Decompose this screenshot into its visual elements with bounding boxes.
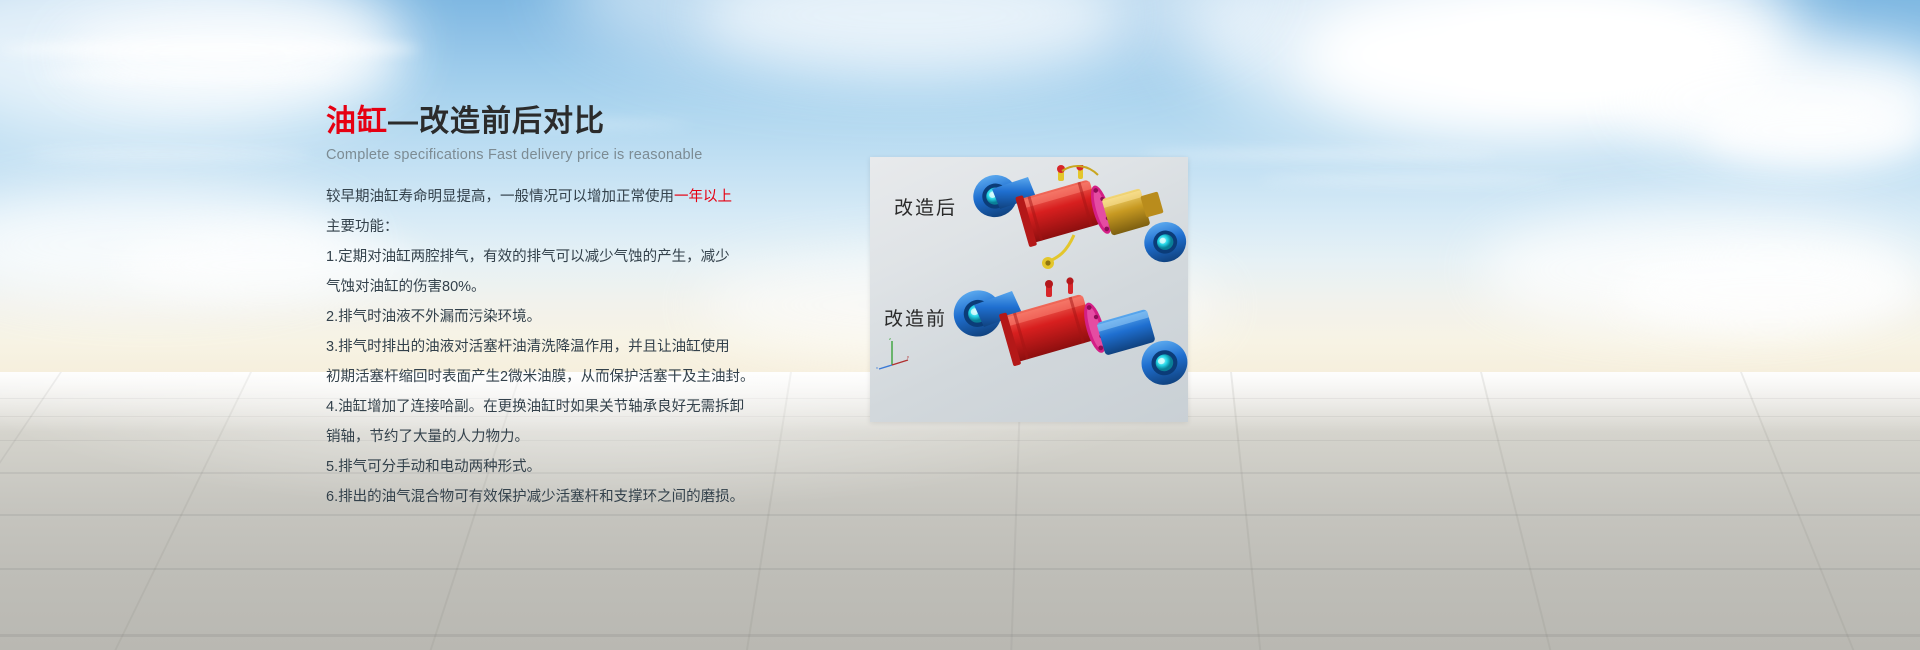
page-subtitle: Complete specifications Fast delivery pr…	[326, 147, 746, 163]
cloud-streak	[30, 150, 310, 159]
port-nipples	[1045, 277, 1074, 297]
label-before-modification: 改造前	[884, 304, 947, 331]
title-rest: —改造前后对比	[388, 105, 605, 138]
cylinder-before-render	[942, 277, 1188, 409]
feature-item-1-line-2: 气蚀对油缸的伤害80%。	[326, 275, 746, 300]
functions-header: 主要功能：	[326, 215, 746, 240]
intro-text: 较早期油缸寿命明显提高，一般情况可以增加正常使用	[326, 189, 674, 205]
cloud-streak	[40, 70, 340, 80]
axis-triad-icon: z x y	[876, 335, 912, 371]
title-highlight: 油缸	[326, 105, 388, 138]
feature-item-3-line-1: 3.排气时排出的油液对活塞杆油清洗降温作用，并且让油缸使用	[326, 335, 746, 360]
cloud-streak	[1260, 176, 1560, 184]
banner-stage: 油缸—改造前后对比 Complete specifications Fast d…	[0, 0, 1920, 650]
cylinder-after-render	[962, 165, 1188, 283]
cloud-streak	[1140, 150, 1500, 159]
feature-item-3-line-2: 初期活塞杆缩回时表面产生2微米油膜，从而保护活塞干及主油封。	[326, 365, 746, 390]
cloud-shape	[1700, 95, 1920, 165]
cad-comparison-panel: 改造后 改造前 z x y	[870, 157, 1188, 422]
bleed-valve-assembly	[1057, 165, 1098, 181]
feature-item-4-line-2: 销轴，节约了大量的人力物力。	[326, 425, 746, 450]
page-title: 油缸—改造前后对比	[326, 104, 746, 140]
feature-item-5: 5.排气可分手动和电动两种形式。	[326, 455, 746, 480]
svg-text:z: z	[889, 336, 891, 341]
feature-list: 较早期油缸寿命明显提高，一般情况可以增加正常使用一年以上 主要功能： 1.定期对…	[326, 185, 746, 510]
banner-text-block: 油缸—改造前后对比 Complete specifications Fast d…	[326, 104, 746, 515]
cloud-shape	[1620, 250, 1920, 330]
svg-text:x: x	[876, 365, 878, 370]
feature-item-2: 2.排气时油液不外漏而污染环境。	[326, 305, 746, 330]
cloud-streak	[0, 42, 420, 56]
feature-item-6: 6.排出的油气混合物可有效保护减少活塞杆和支撑环之间的磨损。	[326, 485, 746, 510]
feature-item-1-line-1: 1.定期对油缸两腔排气，有效的排气可以减少气蚀的产生，减少	[326, 245, 746, 270]
svg-text:y: y	[907, 354, 909, 359]
intro-highlight: 一年以上	[674, 189, 732, 205]
label-after-modification: 改造后	[894, 193, 957, 220]
intro-line: 较早期油缸寿命明显提高，一般情况可以增加正常使用一年以上	[326, 185, 746, 210]
feature-item-4-line-1: 4.油缸增加了连接哈副。在更换油缸时如果关节轴承良好无需拆卸	[326, 395, 746, 420]
